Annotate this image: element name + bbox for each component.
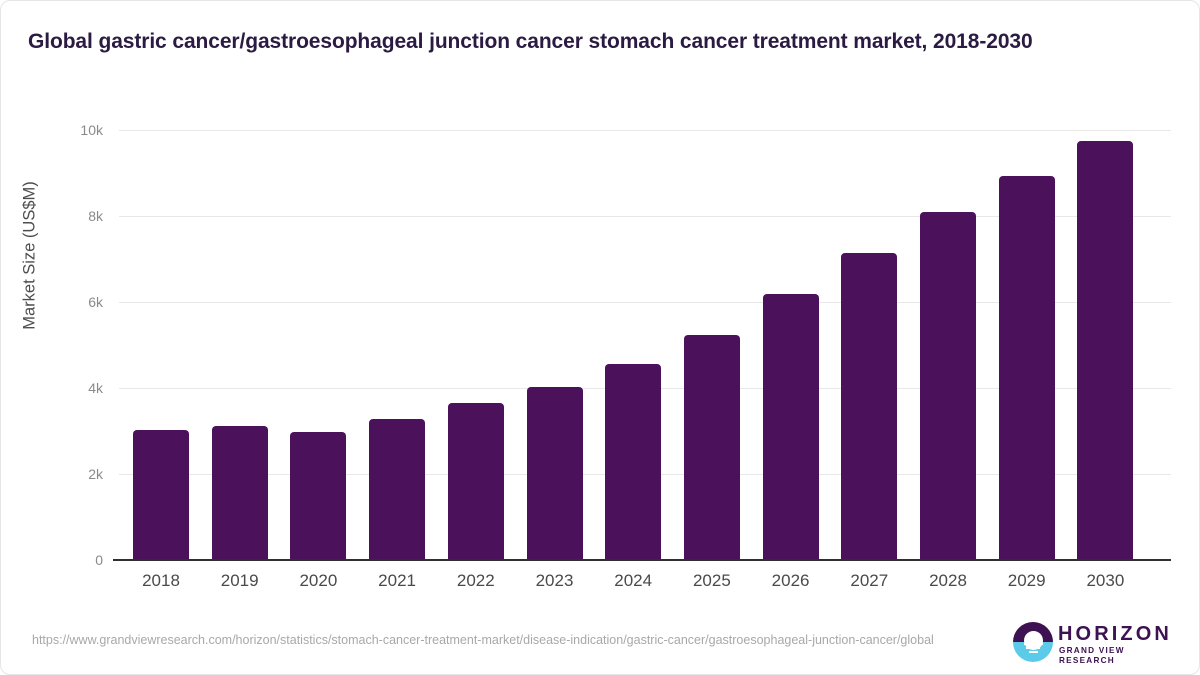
x-axis-tick-label: 2025 — [672, 570, 752, 592]
chart-card: Global gastric cancer/gastroesophageal j… — [0, 0, 1200, 675]
y-axis-tick-label: 8k — [43, 209, 103, 223]
bar-2019[interactable] — [212, 426, 268, 560]
bar-2029[interactable] — [999, 176, 1055, 560]
bar-2023[interactable] — [527, 387, 583, 560]
x-axis-tick-label: 2027 — [829, 570, 909, 592]
bar-2030[interactable] — [1077, 141, 1133, 560]
bar-2025[interactable] — [684, 335, 740, 560]
x-axis-tick-label: 2020 — [278, 570, 358, 592]
x-axis-tick-label: 2019 — [200, 570, 280, 592]
y-axis-tick: 10k — [43, 123, 103, 137]
sun-ray-icon — [1029, 651, 1038, 653]
y-axis-tick: 0 — [43, 553, 103, 567]
bar-2022[interactable] — [448, 403, 504, 560]
x-axis-tick-label: 2029 — [987, 570, 1067, 592]
logo-tagline: GRAND VIEW RESEARCH — [1059, 646, 1173, 666]
y-axis-title: Market Size (US$M) — [21, 161, 40, 351]
bar-2020[interactable] — [290, 432, 346, 560]
x-axis-tick-label: 2024 — [593, 570, 673, 592]
sun-ray-icon — [1026, 647, 1040, 649]
x-axis-tick-label: 2022 — [436, 570, 516, 592]
y-axis-tick-label: 6k — [43, 295, 103, 309]
bar-2028[interactable] — [920, 212, 976, 560]
bar-2018[interactable] — [133, 430, 189, 560]
y-axis-tick-label: 0 — [43, 553, 103, 567]
y-axis-tick: 4k — [43, 381, 103, 395]
y-axis-tick: 6k — [43, 295, 103, 309]
logo-wordmark: HORIZON — [1058, 623, 1172, 645]
y-axis-tick-label: 10k — [43, 123, 103, 137]
x-axis-tick-label: 2023 — [515, 570, 595, 592]
horizon-logo[interactable]: HORIZON GRAND VIEW RESEARCH — [1013, 620, 1173, 664]
x-axis-tick-label: 2028 — [908, 570, 988, 592]
sun-ray-icon — [1024, 643, 1043, 645]
y-axis-tick-label: 2k — [43, 467, 103, 481]
x-axis-tick-label: 2026 — [751, 570, 831, 592]
y-axis-tick: 8k — [43, 209, 103, 223]
gridline — [119, 130, 1171, 131]
source-url[interactable]: https://www.grandviewresearch.com/horizo… — [32, 631, 942, 649]
bar-2027[interactable] — [841, 253, 897, 560]
x-axis-line — [113, 559, 1171, 561]
y-axis-tick-label: 4k — [43, 381, 103, 395]
chart-plot-area: Market Size (US$M) 02k4k6k8k10k 20182019… — [1, 1, 1200, 675]
bar-2021[interactable] — [369, 419, 425, 560]
y-axis-tick: 2k — [43, 467, 103, 481]
x-axis-tick-label: 2030 — [1065, 570, 1145, 592]
x-axis-tick-label: 2018 — [121, 570, 201, 592]
horizon-sun-icon — [1013, 622, 1053, 662]
bar-2024[interactable] — [605, 364, 661, 560]
bar-2026[interactable] — [763, 294, 819, 560]
x-axis-tick-label: 2021 — [357, 570, 437, 592]
